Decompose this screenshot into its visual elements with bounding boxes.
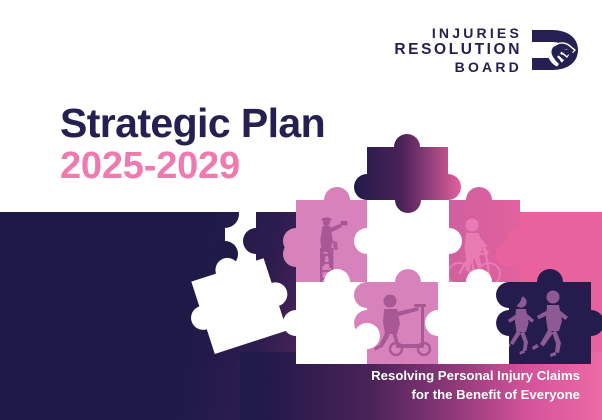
page-subtitle-years: 2025-2029	[60, 145, 240, 188]
page-title: Strategic Plan	[60, 100, 325, 147]
tagline-line-1: Resolving Personal Injury Claims	[280, 366, 580, 385]
puzzle-piece-top-gradient	[354, 134, 461, 228]
logo-line-resolution: RESOLUTION	[394, 41, 522, 59]
handshake-d-mark-icon	[530, 24, 582, 76]
strategic-plan-cover: INJURIES RESOLUTION BOARD Strategic Plan…	[0, 0, 602, 420]
logo-wordmark: INJURIES RESOLUTION BOARD	[394, 25, 522, 75]
puzzle-gap-center	[354, 200, 462, 282]
logo-line-injuries: INJURIES	[432, 25, 522, 41]
tagline: Resolving Personal Injury Claims for the…	[280, 366, 580, 404]
injuries-resolution-board-logo[interactable]: INJURIES RESOLUTION BOARD	[394, 24, 582, 76]
puzzle-piece-scooter	[354, 269, 462, 364]
nub-white-mid	[354, 323, 380, 349]
scooter-rider-silhouette	[374, 295, 430, 356]
logo-line-board: BOARD	[455, 59, 522, 75]
nub-scooter-left	[354, 282, 380, 308]
painter-on-ladder-silhouette	[320, 218, 348, 283]
cyclist-silhouette	[448, 219, 500, 286]
tagline-line-2: for the Benefit of Everyone	[280, 385, 580, 404]
